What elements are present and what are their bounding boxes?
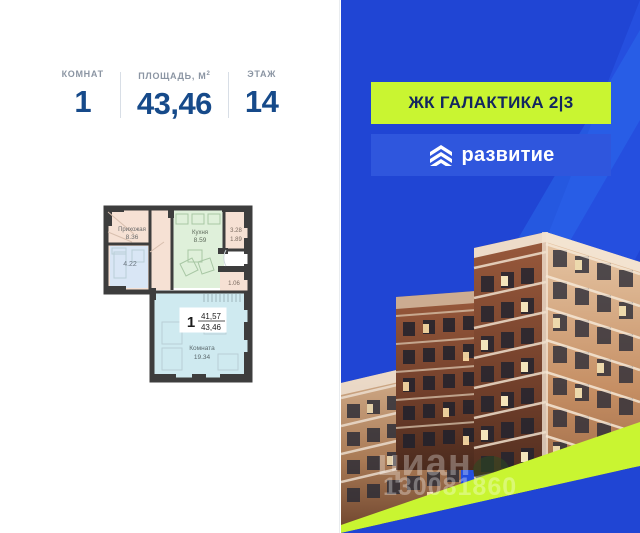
floor-plan-area-badge: 1 41,57 43,46 xyxy=(180,308,226,332)
promo-panel: ЖК ГАЛАКТИКА 2|3 развитие циан 130081860 xyxy=(341,0,640,533)
stat-floor: ЭТАЖ 14 xyxy=(229,68,294,124)
stat-area-label-text: ПЛОЩАДЬ, М xyxy=(138,71,206,81)
room-label-kitchen-name: Кухня xyxy=(192,230,208,236)
stat-rooms-label: КОМНАТ xyxy=(62,68,104,80)
room-label-hallway-area: 8.36 xyxy=(126,234,139,241)
room-fill-main-room xyxy=(154,292,248,378)
room-label-loggia-upper-area: 3.28 xyxy=(230,228,242,234)
apartment-info-card: КОМНАТ 1 ПЛОЩАДЬ, М2 43,46 ЭТАЖ 14 xyxy=(0,0,340,533)
complex-name-text: ЖК ГАЛАКТИКА 2|3 xyxy=(409,93,574,113)
room-label-main-name: Комната xyxy=(189,345,215,352)
badge-area-total: 43,46 xyxy=(201,323,222,332)
room-label-kitchen-area: 8.59 xyxy=(194,237,207,244)
promo-background xyxy=(341,0,640,533)
complex-name-badge[interactable]: ЖК ГАЛАКТИКА 2|3 xyxy=(371,82,611,124)
stat-area-unit-exponent: 2 xyxy=(206,71,210,77)
badge-area-living: 41,57 xyxy=(201,312,222,321)
stat-floor-value: 14 xyxy=(245,82,278,122)
room-label-bathroom-area: 4.22 xyxy=(123,261,137,268)
apartment-stats-row: КОМНАТ 1 ПЛОЩАДЬ, М2 43,46 ЭТАЖ 14 xyxy=(0,68,340,124)
developer-bar[interactable]: развитие xyxy=(371,134,611,176)
triple-chevron-up-icon xyxy=(428,144,454,166)
stat-area-label: ПЛОЩАДЬ, М2 xyxy=(138,68,210,82)
floor-plan: Прихожая 8.36 Кухня 8.59 4.22 3.28 1.89 … xyxy=(92,192,272,392)
room-label-main-area: 19.34 xyxy=(194,354,211,361)
stat-floor-label: ЭТАЖ xyxy=(247,68,276,80)
stat-area-value: 43,46 xyxy=(137,84,212,124)
room-fill-kitchen xyxy=(172,210,224,288)
stat-rooms: КОМНАТ 1 xyxy=(46,68,120,124)
developer-name-text: развитие xyxy=(462,144,555,167)
room-label-loggia-lower-area: 1.06 xyxy=(228,281,240,287)
badge-room-count: 1 xyxy=(187,314,195,331)
room-label-hallway-name: Прихожая xyxy=(118,227,146,233)
stat-rooms-value: 1 xyxy=(74,82,91,122)
listing-card-image: КОМНАТ 1 ПЛОЩАДЬ, М2 43,46 ЭТАЖ 14 xyxy=(0,0,640,533)
stat-area: ПЛОЩАДЬ, М2 43,46 xyxy=(121,68,228,124)
room-label-loggia-upper-area-2: 1.89 xyxy=(230,237,242,243)
